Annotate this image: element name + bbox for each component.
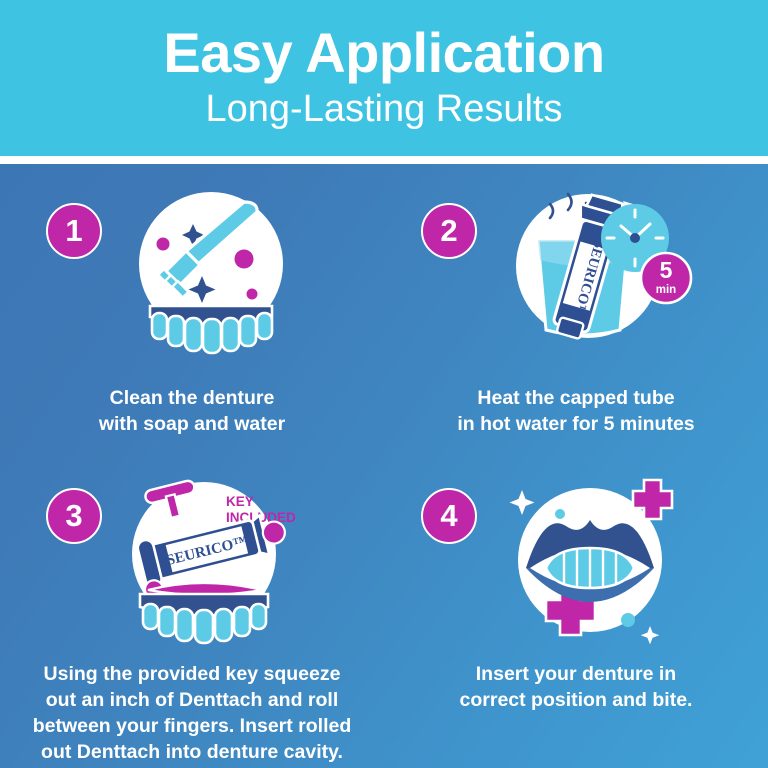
step-3-caption-line-1: Using the provided key squeeze (18, 662, 366, 688)
header-banner: Easy Application Long-Lasting Results (0, 0, 768, 156)
step-1-number: 1 (65, 213, 82, 249)
page-title: Easy Application (163, 25, 604, 81)
infographic-page: Easy Application Long-Lasting Results 1 (0, 0, 768, 768)
step-3-key-badge-line-1: KEY (226, 494, 254, 509)
step-4-badge: 4 (421, 488, 477, 544)
step-4-caption: Insert your denture in correct position … (384, 662, 768, 714)
step-2-badge: 2 (421, 203, 477, 259)
step-3-badge: 3 (46, 488, 102, 544)
step-2-timer-unit: min (656, 284, 676, 296)
steps-area: 1 (0, 164, 768, 768)
step-2: 2 (384, 164, 768, 466)
page-subtitle: Long-Lasting Results (206, 89, 563, 131)
header-divider (0, 156, 768, 164)
step-4-caption-line-1: Insert your denture in (402, 662, 750, 688)
step-1-caption: Clean the denture with soap and water (0, 386, 384, 438)
mouth-insert-denture-icon (484, 468, 690, 664)
step-4-caption-line-2: correct position and bite. (402, 688, 750, 714)
step-3-caption: Using the provided key squeeze out an in… (0, 662, 384, 766)
tube-in-hot-water-glass-icon: SEURICO™ 5 min (496, 182, 696, 372)
step-2-caption-line-2: in hot water for 5 minutes (402, 412, 750, 438)
step-2-caption-line-1: Heat the capped tube (402, 386, 750, 412)
toothbrush-denture-icon (116, 184, 306, 374)
step-1: 1 (0, 164, 384, 466)
step-2-timer-value: 5 (660, 257, 673, 283)
step-3-caption-line-4: out Denttach into denture cavity. (18, 740, 366, 766)
step-1-caption-line-1: Clean the denture (18, 386, 366, 412)
step-3-caption-line-2: out an inch of Denttach and roll (18, 688, 366, 714)
step-4: 4 (384, 466, 768, 768)
steps-grid: 1 (0, 164, 768, 768)
step-3-caption-line-3: between your fingers. Insert rolled (18, 714, 366, 740)
step-3-number: 3 (65, 498, 82, 534)
step-4-number: 4 (440, 498, 457, 534)
step-2-number: 2 (440, 213, 457, 249)
step-2-caption: Heat the capped tube in hot water for 5 … (384, 386, 768, 438)
step-3: 3 KEY INCLUDED SEURI (0, 466, 384, 768)
key-squeeze-tube-denture-icon: KEY INCLUDED SEURICO™ (106, 472, 302, 658)
step-1-badge: 1 (46, 203, 102, 259)
step-1-caption-line-2: with soap and water (18, 412, 366, 438)
